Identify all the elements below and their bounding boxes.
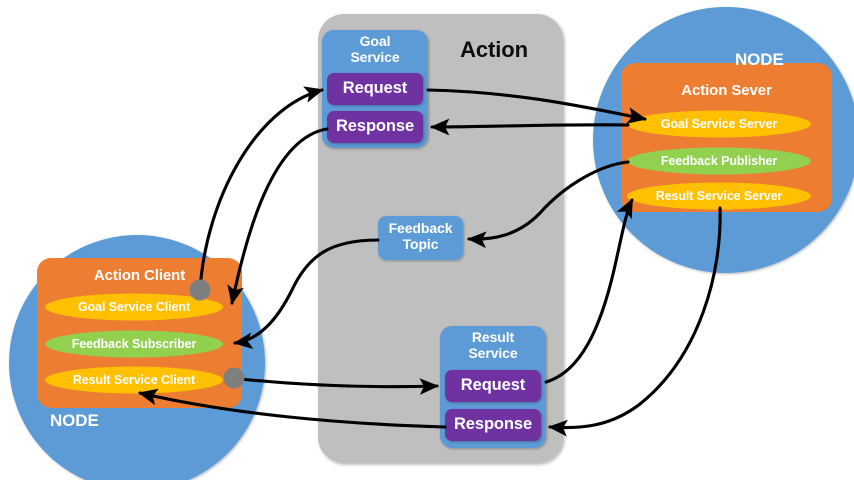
diagram-canvas: Action Goal Service Request Response Fee… bbox=[0, 0, 854, 480]
arrow-resultserver-to-resultresponse bbox=[550, 208, 720, 428]
arrow-feedbackpublisher-to-feedbacktopic bbox=[469, 162, 628, 239]
arrow-resultrequest-to-resultserver bbox=[546, 200, 632, 382]
arrow-resultresponse-to-resultclient bbox=[140, 393, 445, 427]
client-result-connector-dot bbox=[224, 368, 245, 389]
arrows-layer bbox=[0, 0, 854, 480]
arrow-feedbacktopic-to-feedbacksubscriber bbox=[235, 240, 378, 343]
arrow-resultclient-to-resultrequest bbox=[240, 379, 437, 387]
arrow-goalserver-to-goalresponse bbox=[432, 125, 628, 127]
client-goal-connector-dot bbox=[190, 280, 211, 301]
arrow-goalclient-to-goalrequest bbox=[200, 90, 322, 290]
arrow-goalrequest-to-goalserver bbox=[428, 90, 645, 119]
arrow-goalresponse-to-goalclient bbox=[232, 129, 327, 303]
